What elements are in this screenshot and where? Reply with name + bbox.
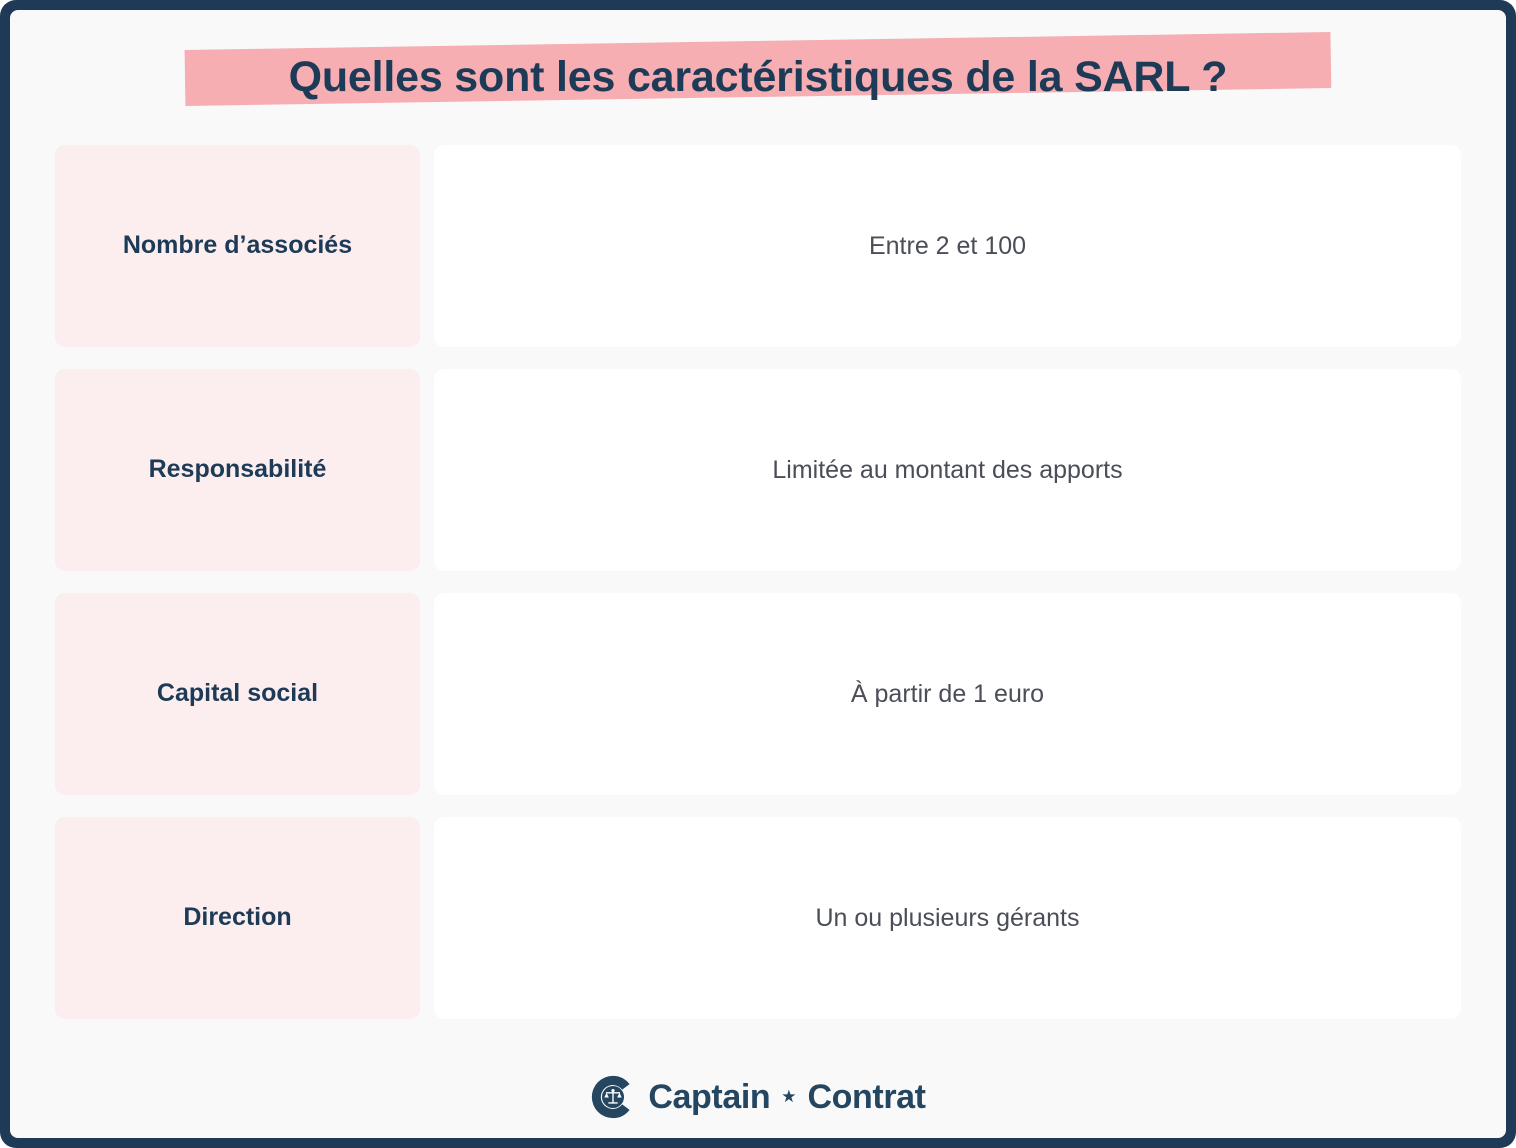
star-icon: ★ (781, 1088, 796, 1105)
row-label-text: Nombre d’associés (123, 230, 352, 261)
row-value-text: Un ou plusieurs gérants (815, 902, 1079, 935)
row-value-text: Entre 2 et 100 (869, 230, 1026, 263)
row-label-cell: Responsabilité (55, 369, 420, 571)
brand-name-second: Contrat (808, 1080, 926, 1114)
row-label-text: Responsabilité (149, 454, 327, 485)
row-value-text: Limitée au montant des apports (772, 454, 1122, 487)
row-label-cell: Nombre d’associés (55, 145, 420, 347)
table-row: Nombre d’associés Entre 2 et 100 (55, 145, 1461, 347)
row-label-text: Capital social (157, 678, 318, 709)
row-value-cell: Limitée au montant des apports (434, 369, 1461, 571)
row-value-cell: Un ou plusieurs gérants (434, 817, 1461, 1019)
row-value-cell: À partir de 1 euro (434, 593, 1461, 795)
characteristics-table: Nombre d’associés Entre 2 et 100 Respons… (10, 10, 1506, 1138)
row-value-cell: Entre 2 et 100 (434, 145, 1461, 347)
row-label-cell: Direction (55, 817, 420, 1019)
brand-name-first: Captain (648, 1080, 770, 1114)
infographic-frame: Quelles sont les caractéristiques de la … (0, 0, 1516, 1148)
table-row: Responsabilité Limitée au montant des ap… (55, 369, 1461, 571)
infographic-canvas: Quelles sont les caractéristiques de la … (10, 10, 1506, 1138)
table-row: Direction Un ou plusieurs gérants (55, 817, 1461, 1019)
row-label-text: Direction (183, 902, 291, 933)
brand-wordmark: Captain ★ Contrat (648, 1080, 925, 1114)
captain-contrat-scales-emblem-icon (590, 1074, 636, 1120)
table-row: Capital social À partir de 1 euro (55, 593, 1461, 795)
brand-footer: Captain ★ Contrat (10, 1074, 1506, 1120)
row-value-text: À partir de 1 euro (851, 678, 1044, 711)
row-label-cell: Capital social (55, 593, 420, 795)
